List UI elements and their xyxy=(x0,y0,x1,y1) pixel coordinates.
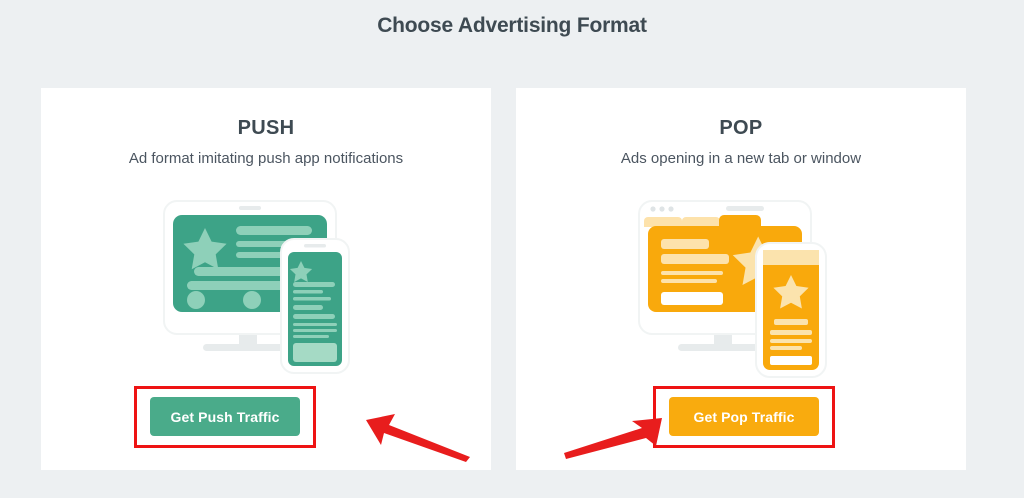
format-card-pop[interactable]: POP Ads opening in a new tab or window xyxy=(516,88,966,470)
push-cta-zone: Get Push Traffic xyxy=(41,384,491,464)
pop-illustration xyxy=(516,193,966,383)
card-title-push: PUSH xyxy=(41,117,491,140)
push-illustration xyxy=(41,193,491,383)
pop-cta-zone: Get Pop Traffic xyxy=(516,384,966,464)
format-card-push[interactable]: PUSH Ad format imitating push app notifi… xyxy=(41,88,491,470)
card-title-pop: POP xyxy=(516,117,966,140)
card-subtitle-push: Ad format imitating push app notificatio… xyxy=(41,150,491,167)
get-pop-traffic-button[interactable]: Get Pop Traffic xyxy=(669,397,819,436)
page-title: Choose Advertising Format xyxy=(0,14,1024,38)
get-push-traffic-button[interactable]: Get Push Traffic xyxy=(150,397,300,436)
card-subtitle-pop: Ads opening in a new tab or window xyxy=(516,150,966,167)
